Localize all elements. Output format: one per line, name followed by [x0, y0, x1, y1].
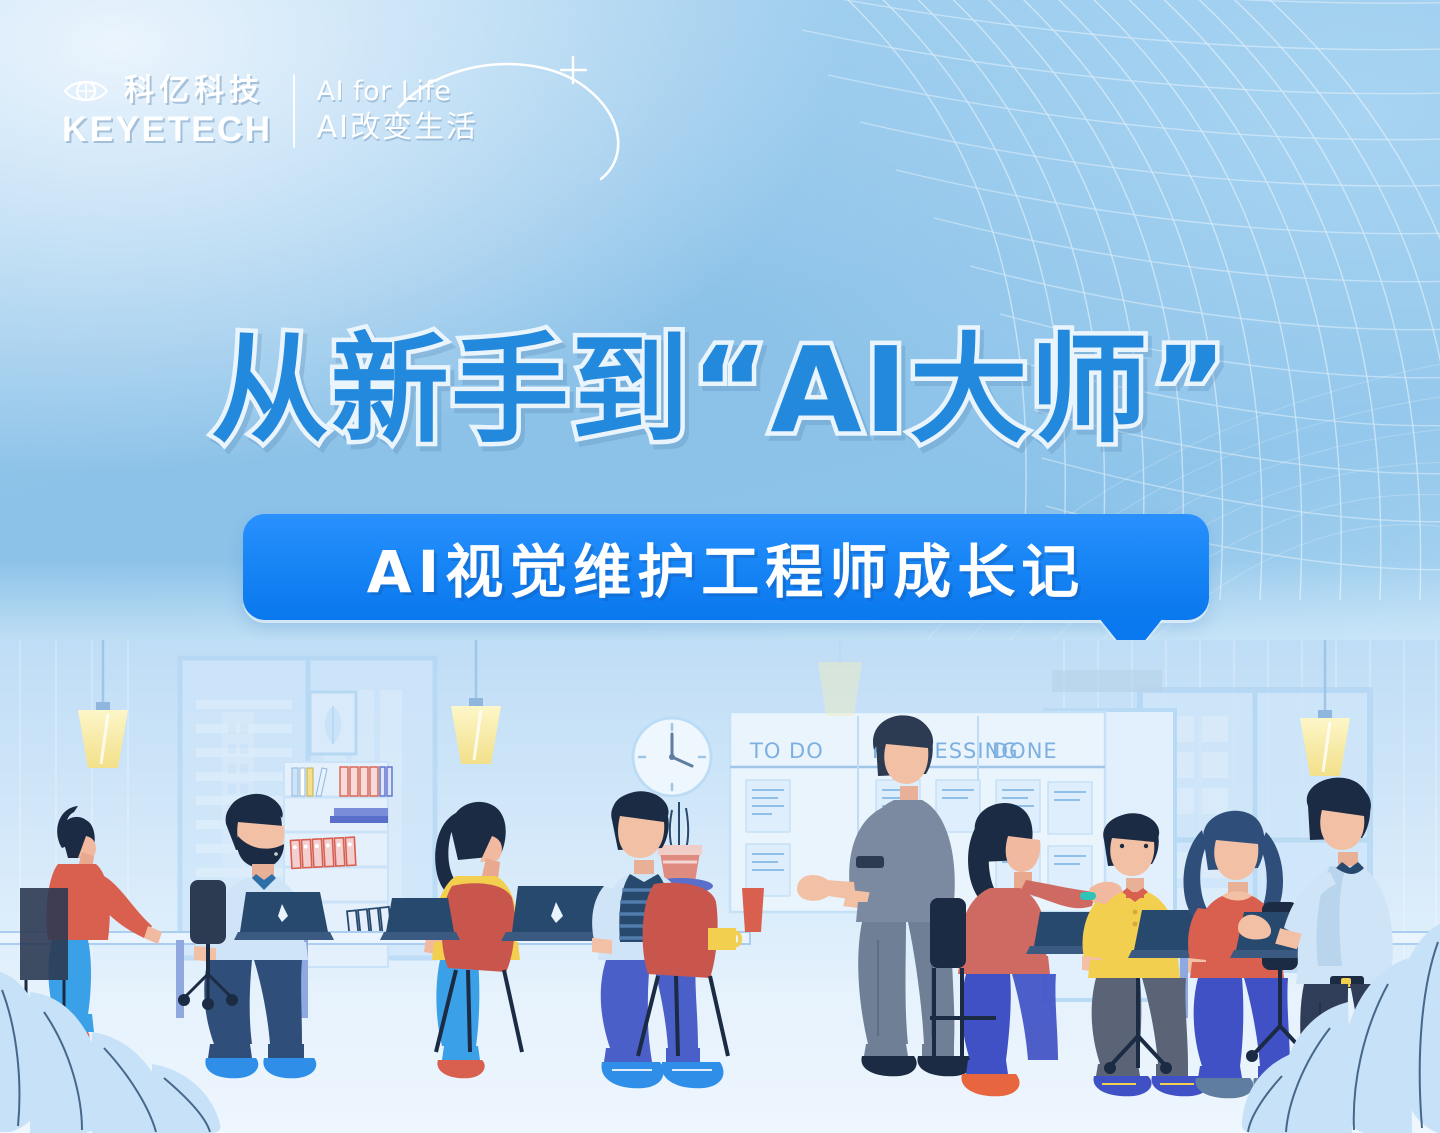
office-illustration: TO DO PROCESSING DONE: [0, 640, 1440, 1133]
poster-canvas: 科亿科技 KEYETECH AI for Life AI改变生活 从新手到“AI…: [0, 0, 1440, 1133]
office-scene-svg: TO DO PROCESSING DONE: [0, 640, 1440, 1133]
eye-icon: [62, 76, 110, 106]
framed-leaf-picture: [310, 692, 356, 754]
brand-tagline-en: AI for Life: [317, 77, 478, 107]
logo-divider: [293, 74, 295, 148]
hero-subtitle-text: AI视觉维护工程师成长记: [367, 525, 1085, 609]
brand-name-en: KEYETECH: [62, 112, 273, 147]
hero-title: 从新手到“AI大师”: [0, 331, 1440, 449]
hero-subtitle-banner: AI视觉维护工程师成长记: [243, 514, 1209, 620]
brand-logo: 科亿科技 KEYETECH AI for Life AI改变生活: [62, 74, 478, 148]
shelf-book-stack: [330, 808, 388, 823]
wall-clock: [633, 718, 711, 796]
kanban-col-todo: TO DO: [749, 739, 824, 763]
shelf-books-top: [292, 767, 392, 796]
kanban-col-done: DONE: [992, 739, 1058, 763]
brand-tagline-cn: AI改变生活: [317, 111, 478, 145]
brand-name-cn: 科亿科技: [124, 76, 264, 106]
brand-tagline-block: AI for Life AI改变生活: [317, 77, 478, 145]
brand-logo-left: 科亿科技 KEYETECH: [62, 76, 273, 147]
